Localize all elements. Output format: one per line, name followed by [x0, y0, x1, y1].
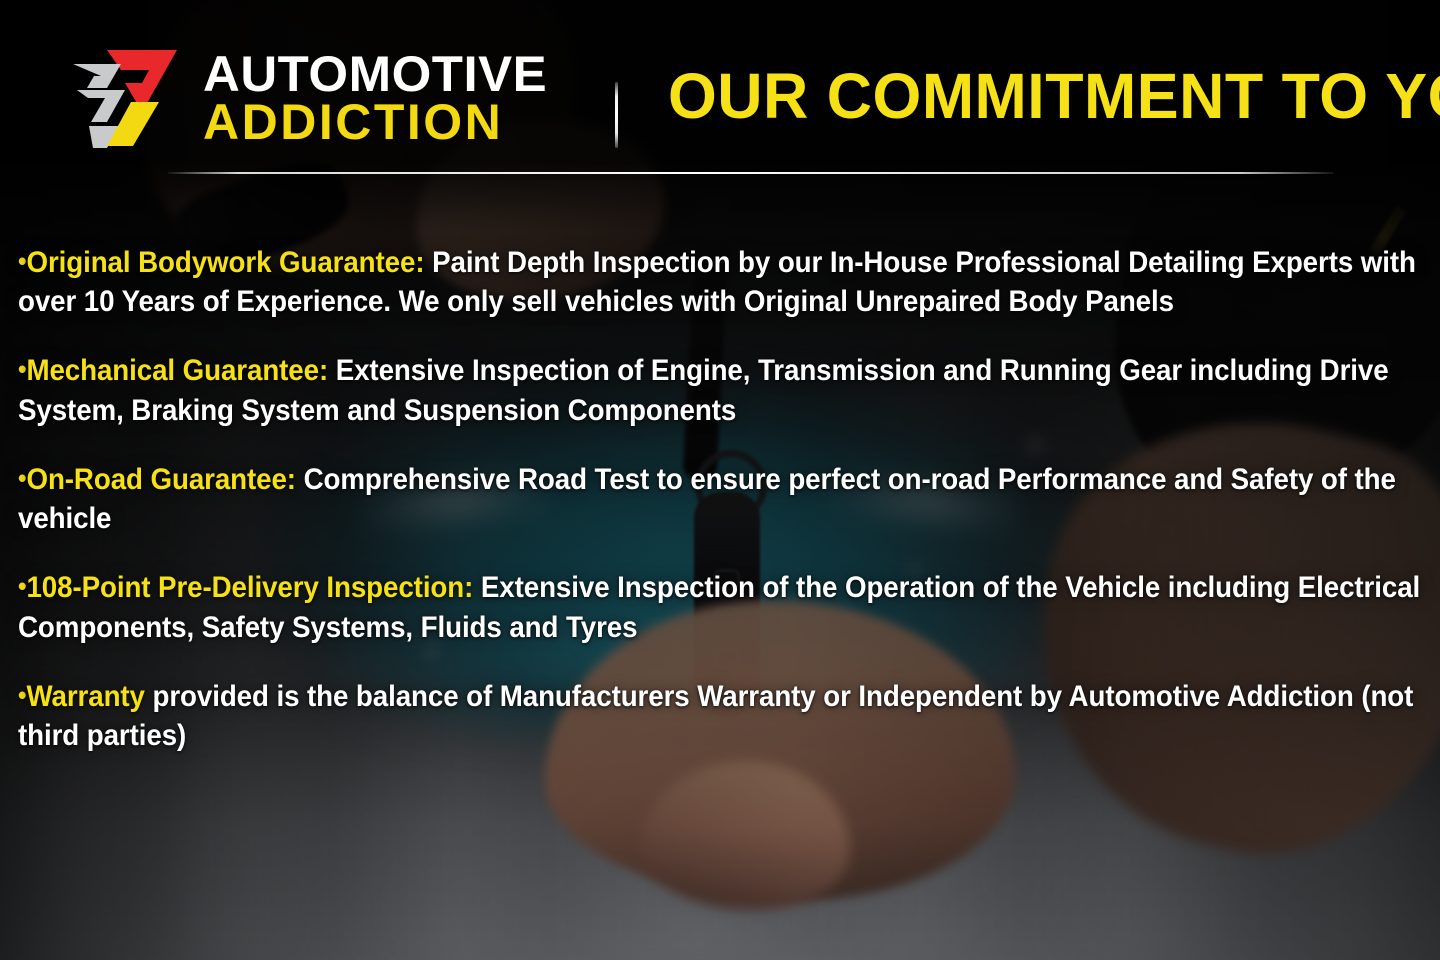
commitment-lead: On-Road Guarantee:	[26, 463, 295, 496]
brand-name-line2: ADDICTION	[203, 99, 540, 145]
brand-wordmark: AUTOMOTIVE ADDICTION	[203, 51, 540, 145]
brand-logo: AUTOMOTIVE ADDICTION	[63, 42, 540, 154]
automotive-addiction-monogram-icon	[63, 42, 181, 154]
commitment-lead: Warranty	[26, 680, 144, 713]
list-item: •On-Road Guarantee: Comprehensive Road T…	[18, 460, 1428, 538]
horizontal-divider	[168, 172, 1333, 174]
commitments-list: •Original Bodywork Guarantee: Paint Dept…	[18, 243, 1428, 755]
bullet-dot-icon: •	[18, 571, 26, 601]
page-title: OUR COMMITMENT TO YOU	[668, 64, 1440, 128]
bullet-dot-icon: •	[18, 680, 26, 710]
bullet-dot-icon: •	[18, 354, 26, 384]
list-item: •Original Bodywork Guarantee: Paint Dept…	[18, 243, 1428, 321]
commitment-body: provided is the balance of Manufacturers…	[18, 680, 1413, 752]
list-item: •108-Point Pre-Delivery Inspection: Exte…	[18, 568, 1428, 646]
list-item: •Mechanical Guarantee: Extensive Inspect…	[18, 351, 1428, 429]
commitment-lead: 108-Point Pre-Delivery Inspection:	[26, 571, 473, 604]
commitment-lead: Mechanical Guarantee:	[26, 354, 328, 387]
brand-name-line1: AUTOMOTIVE	[203, 51, 547, 97]
promotional-poster: AUTOMOTIVE ADDICTION OUR COMMITMENT TO Y…	[0, 0, 1440, 960]
bullet-dot-icon: •	[18, 246, 26, 276]
commitment-lead: Original Bodywork Guarantee:	[26, 246, 424, 279]
bullet-dot-icon: •	[18, 463, 26, 493]
list-item: •Warranty provided is the balance of Man…	[18, 677, 1428, 755]
poster-header: AUTOMOTIVE ADDICTION OUR COMMITMENT TO Y…	[0, 0, 1440, 175]
vertical-divider	[615, 82, 618, 148]
